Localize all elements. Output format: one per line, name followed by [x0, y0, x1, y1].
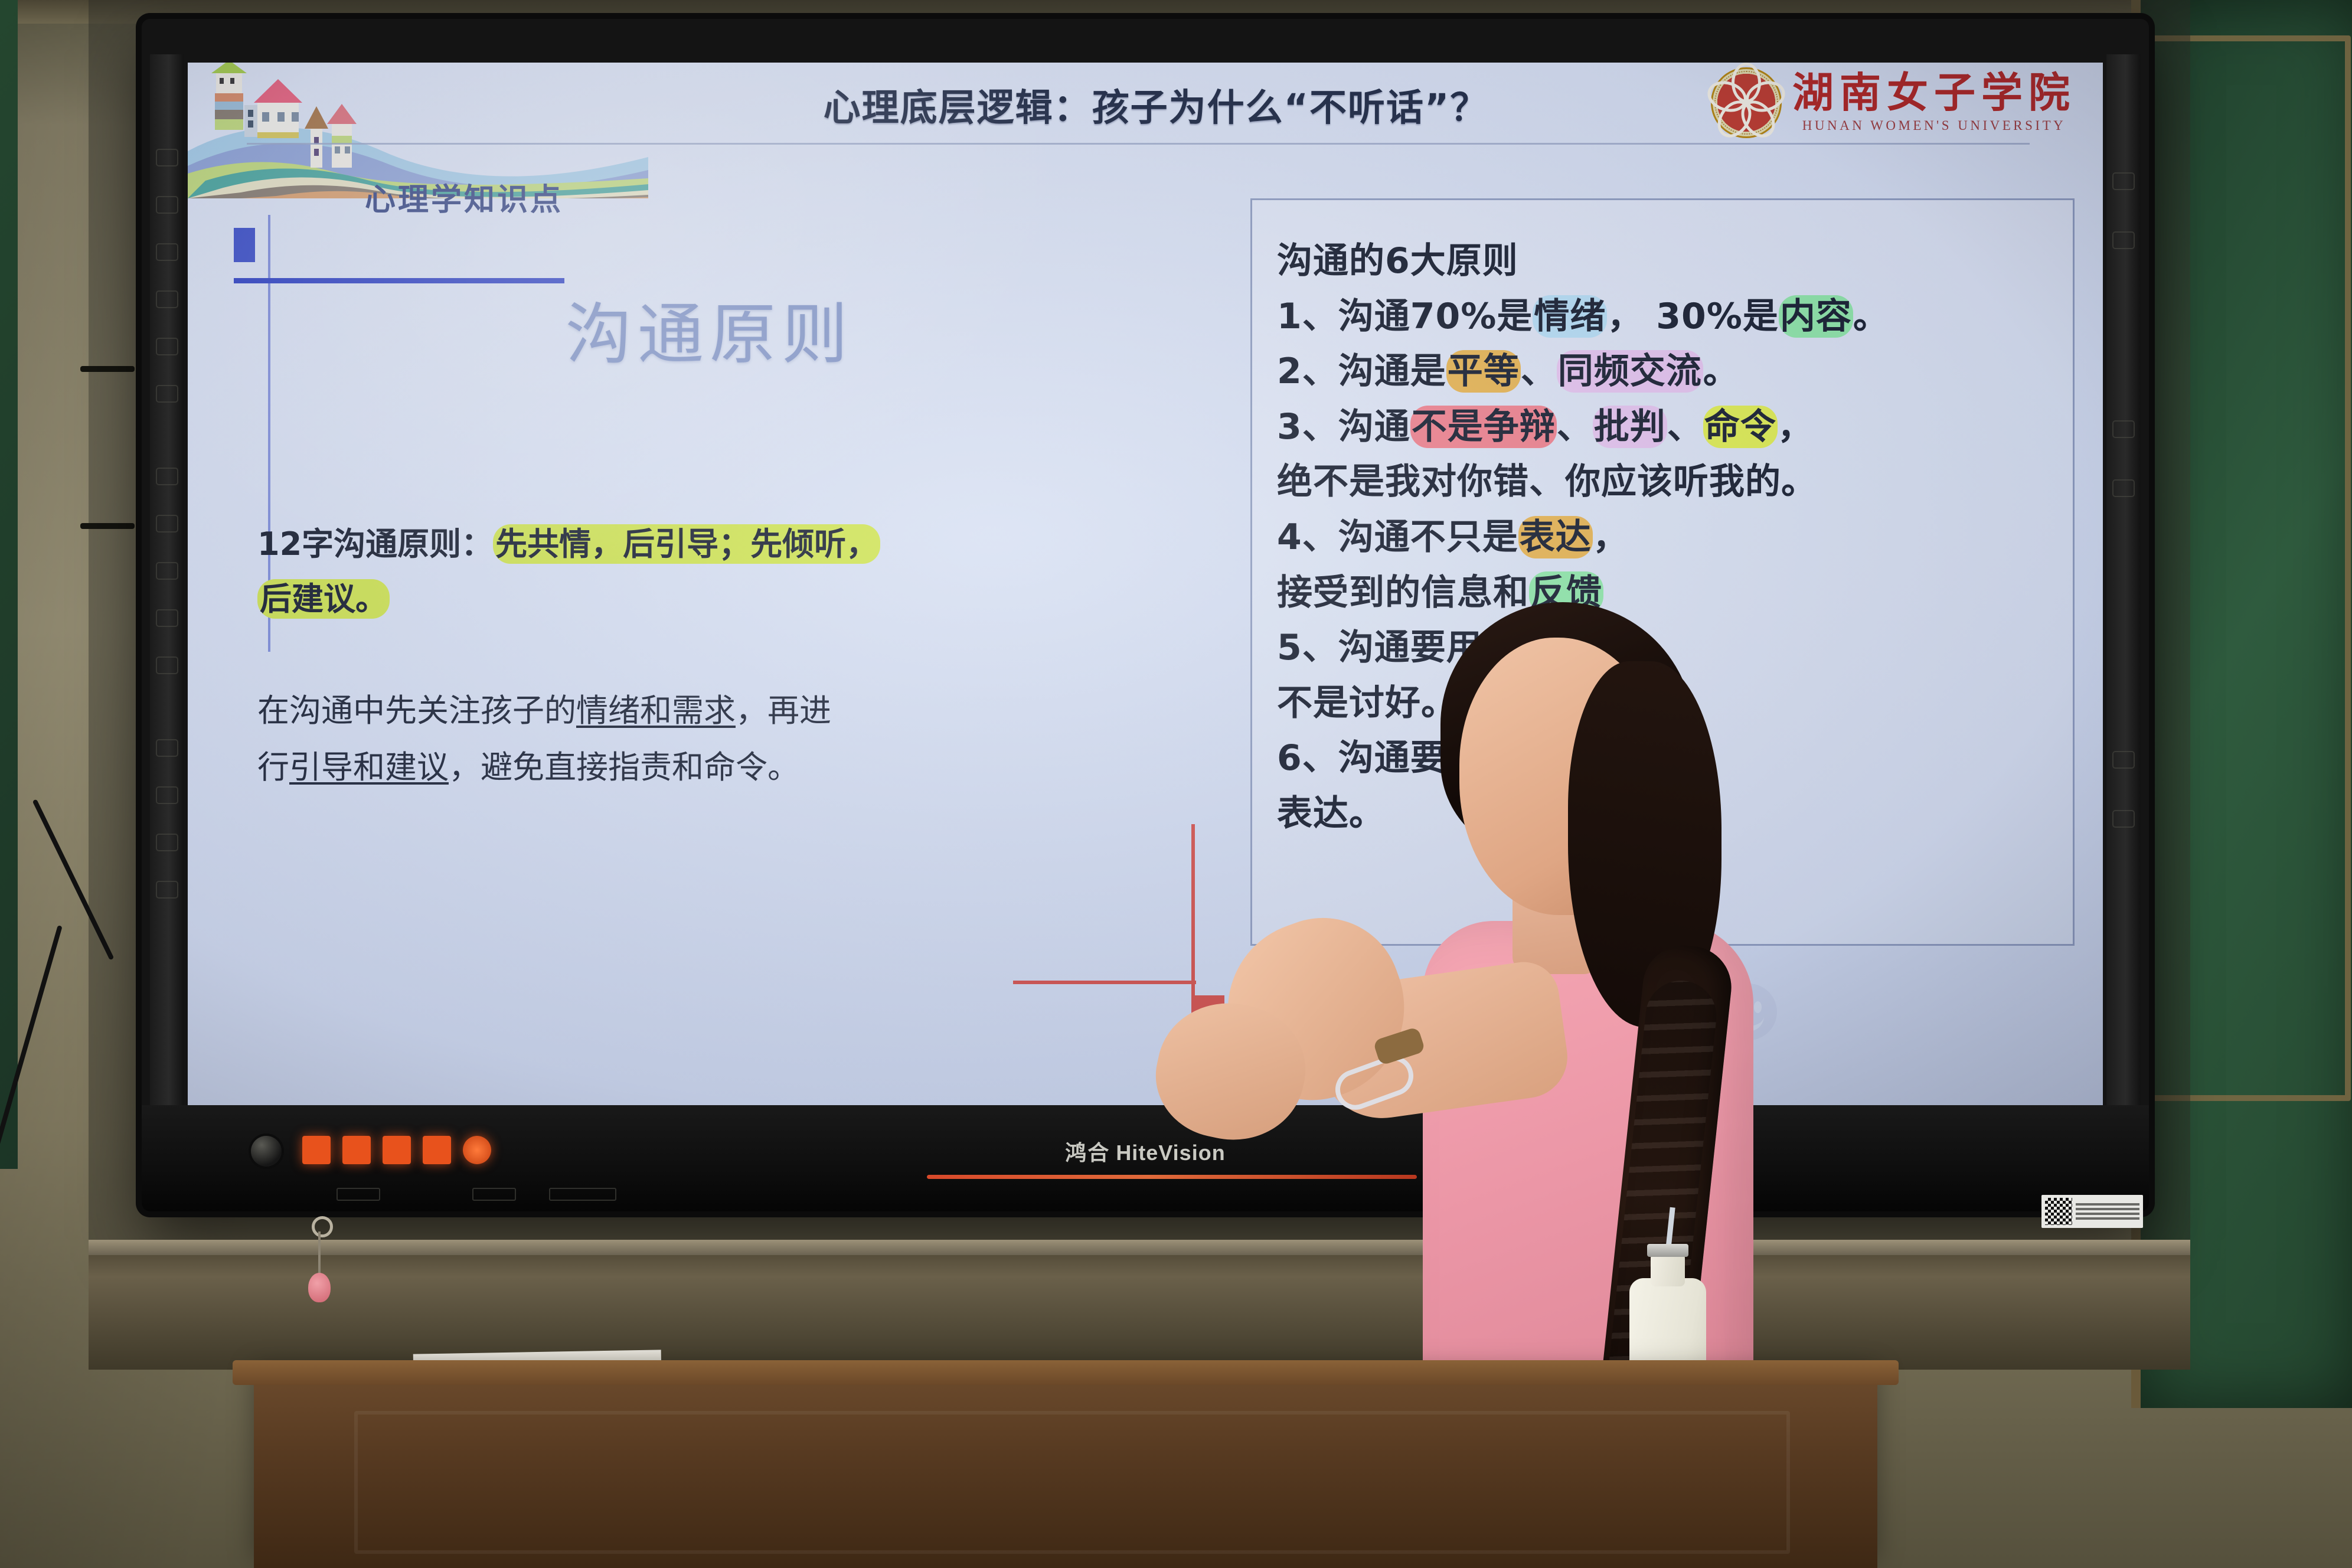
- usb-port[interactable]: [337, 1188, 380, 1201]
- principle-number: 4、: [1277, 517, 1338, 558]
- para-seg-3: 行: [257, 749, 289, 786]
- principle-highlighted-term: 不是争辩: [1410, 406, 1557, 448]
- window-icon[interactable]: [156, 338, 178, 355]
- principle-text: 。: [1703, 351, 1739, 392]
- settings-icon[interactable]: [2112, 810, 2135, 828]
- led-indicator[interactable]: [302, 1136, 331, 1164]
- section-kicker: 心理学知识点: [365, 175, 563, 219]
- bezel-right-toolbar[interactable]: [2106, 54, 2141, 1117]
- hanging-keychain: [307, 1216, 331, 1305]
- kicker-horizontal-rule: [234, 278, 564, 283]
- display-ledge: [89, 1246, 2190, 1370]
- eraser-icon[interactable]: [2112, 479, 2135, 497]
- shapes-icon[interactable]: [156, 609, 178, 627]
- principle-highlight-first: 先共情，后引导；先倾听，: [493, 524, 880, 564]
- wall-hook-lower: [80, 523, 135, 529]
- text-icon[interactable]: [156, 739, 178, 757]
- led-indicator[interactable]: [423, 1136, 451, 1164]
- principle-text: ，: [1593, 517, 1629, 558]
- principle-highlighted-term: 平等: [1446, 350, 1521, 393]
- principle-number: 1、: [1277, 296, 1338, 337]
- principle-highlighted-term: 情绪: [1533, 295, 1607, 338]
- layers-icon[interactable]: [156, 786, 178, 804]
- qr-code-icon: [2045, 1198, 2072, 1225]
- asset-tag-text-lines: [2076, 1203, 2139, 1220]
- status-light-bar: [927, 1175, 1417, 1179]
- principle-row: 4、沟通不只是表达，: [1277, 510, 2080, 566]
- cloud-icon[interactable]: [156, 243, 178, 261]
- principle-text: 沟通是: [1338, 351, 1446, 392]
- lectern: [254, 1376, 1877, 1568]
- principle-text: ，: [1778, 406, 1814, 447]
- chalkboard-left-edge: [0, 0, 18, 1169]
- principle-text: 、: [1667, 406, 1703, 447]
- bottle-neck: [1651, 1253, 1685, 1286]
- power-knob-icon[interactable]: [251, 1136, 282, 1167]
- home-icon[interactable]: [2112, 231, 2135, 249]
- principle-statement: 12字沟通原则：先共情，后引导；先倾听， 后建议。: [257, 517, 1143, 627]
- display-brand: 鸿合HiteVision: [1065, 1136, 1225, 1167]
- section-heading: 沟通原则: [566, 281, 854, 377]
- panel-bottom-bezel: 鸿合HiteVision: [142, 1105, 2149, 1211]
- principle-number: 5、: [1277, 627, 1338, 668]
- usb-port[interactable]: [472, 1188, 516, 1201]
- home-icon[interactable]: [156, 196, 178, 214]
- principle-number: 2、: [1277, 351, 1338, 392]
- red-horizontal-accent: [1013, 981, 1196, 984]
- principle-row: 1、沟通70%是情绪， 30%是内容。: [1277, 289, 2080, 345]
- image-icon[interactable]: [156, 656, 178, 674]
- principle-row: 绝不是我对你错、你应该听我的。: [1277, 455, 2080, 510]
- principle-highlighted-term: 命令: [1703, 406, 1778, 448]
- wall-hook-upper: [80, 366, 135, 372]
- principle-highlight-second: 后建议。: [257, 579, 390, 619]
- note-icon[interactable]: [156, 385, 178, 403]
- brand-name-en: HiteVision: [1116, 1141, 1225, 1165]
- kicker-square-marker: [234, 228, 255, 262]
- university-name-en: HUNAN WOMEN'S UNIVERSITY: [1802, 118, 2066, 133]
- principle-highlighted-term: 同频交流: [1557, 350, 1703, 393]
- principle-text: 绝不是我对你错、你应该听我的。: [1277, 461, 1817, 502]
- principle-text: 。: [1853, 296, 1889, 337]
- lectern-top-edge: [233, 1360, 1899, 1385]
- interactive-flat-panel[interactable]: 心理底层逻辑：孩子为什么“不听话”？ 湖南女子学院 HUNAN WOMEN'S …: [142, 19, 2149, 1211]
- university-seal-icon: [1711, 67, 1782, 138]
- principle-text: 沟通70%是: [1338, 296, 1533, 337]
- principle-row: 3、沟通不是争辩、批判、命令，: [1277, 400, 2080, 455]
- star-icon[interactable]: [156, 149, 178, 166]
- settings-icon[interactable]: [156, 881, 178, 899]
- video-icon[interactable]: [156, 834, 178, 851]
- para-underline-1: 情绪和需求: [576, 692, 736, 729]
- slide-title: 心理底层逻辑：孩子为什么“不听话”？: [459, 78, 1853, 132]
- star-icon[interactable]: [2112, 172, 2135, 190]
- brand-name-cn: 鸿合: [1065, 1141, 1110, 1165]
- eraser-icon[interactable]: [156, 562, 178, 580]
- power-led-indicator[interactable]: [463, 1136, 491, 1164]
- principle-label: 12字沟通原则: [257, 525, 461, 563]
- asset-tag-label: [2041, 1195, 2143, 1228]
- screenshot-root: 心理底层逻辑：孩子为什么“不听话”？ 湖南女子学院 HUNAN WOMEN'S …: [0, 0, 2352, 1568]
- keychain-strap: [318, 1231, 321, 1274]
- bezel-left-toolbar[interactable]: [150, 54, 184, 1117]
- bottle-cap: [1647, 1244, 1688, 1257]
- cursor-icon[interactable]: [156, 468, 178, 485]
- explanation-paragraph: 在沟通中先关注孩子的情绪和需求，再进 行引导和建议，避免直接指责和命令。: [257, 682, 1178, 796]
- display-ledge-lip: [89, 1240, 2190, 1255]
- university-logo: 湖南女子学院 HUNAN WOMEN'S UNIVERSITY: [1711, 67, 2076, 138]
- red-vertical-accent: [1191, 824, 1195, 1025]
- principle-number: 6、: [1277, 737, 1338, 779]
- keyring-icon: [312, 1216, 333, 1237]
- principle-text: 沟通: [1338, 406, 1410, 447]
- title-divider: [247, 143, 2030, 145]
- pen-icon[interactable]: [156, 515, 178, 533]
- principle-text: 、: [1521, 351, 1557, 392]
- principle-text: 、: [1557, 406, 1593, 447]
- university-name-cn: 湖南女子学院: [1792, 72, 2076, 113]
- university-name-block: 湖南女子学院 HUNAN WOMEN'S UNIVERSITY: [1792, 72, 2076, 133]
- tablet-icon[interactable]: [156, 290, 178, 308]
- led-indicator[interactable]: [342, 1136, 371, 1164]
- para-seg-2: ，再进: [736, 692, 831, 729]
- principles-heading: 沟通的6大原则: [1277, 234, 2080, 289]
- keychain-charm-icon: [308, 1273, 331, 1302]
- principle-colon: ：: [461, 525, 493, 563]
- para-seg-4: ，避免直接指责和命令。: [449, 749, 799, 786]
- led-indicator-row[interactable]: [302, 1136, 491, 1164]
- lectern-front-panel: [354, 1411, 1790, 1554]
- principle-number: 3、: [1277, 406, 1338, 447]
- led-indicator[interactable]: [383, 1136, 411, 1164]
- principle-highlighted-term: 表达: [1518, 516, 1593, 558]
- principle-highlighted-term: 批判: [1593, 406, 1667, 448]
- para-seg-1: 在沟通中先关注孩子的: [257, 692, 576, 729]
- window-icon[interactable]: [2112, 751, 2135, 769]
- principle-highlighted-term: 内容: [1779, 295, 1853, 338]
- principle-row: 2、沟通是平等、同频交流。: [1277, 344, 2080, 400]
- pen-icon[interactable]: [2112, 420, 2135, 438]
- para-underline-2: 引导和建议: [289, 749, 449, 786]
- principle-text: 沟通不只是: [1338, 517, 1518, 558]
- hdmi-port[interactable]: [549, 1188, 616, 1201]
- principle-text: ， 30%是: [1607, 296, 1779, 337]
